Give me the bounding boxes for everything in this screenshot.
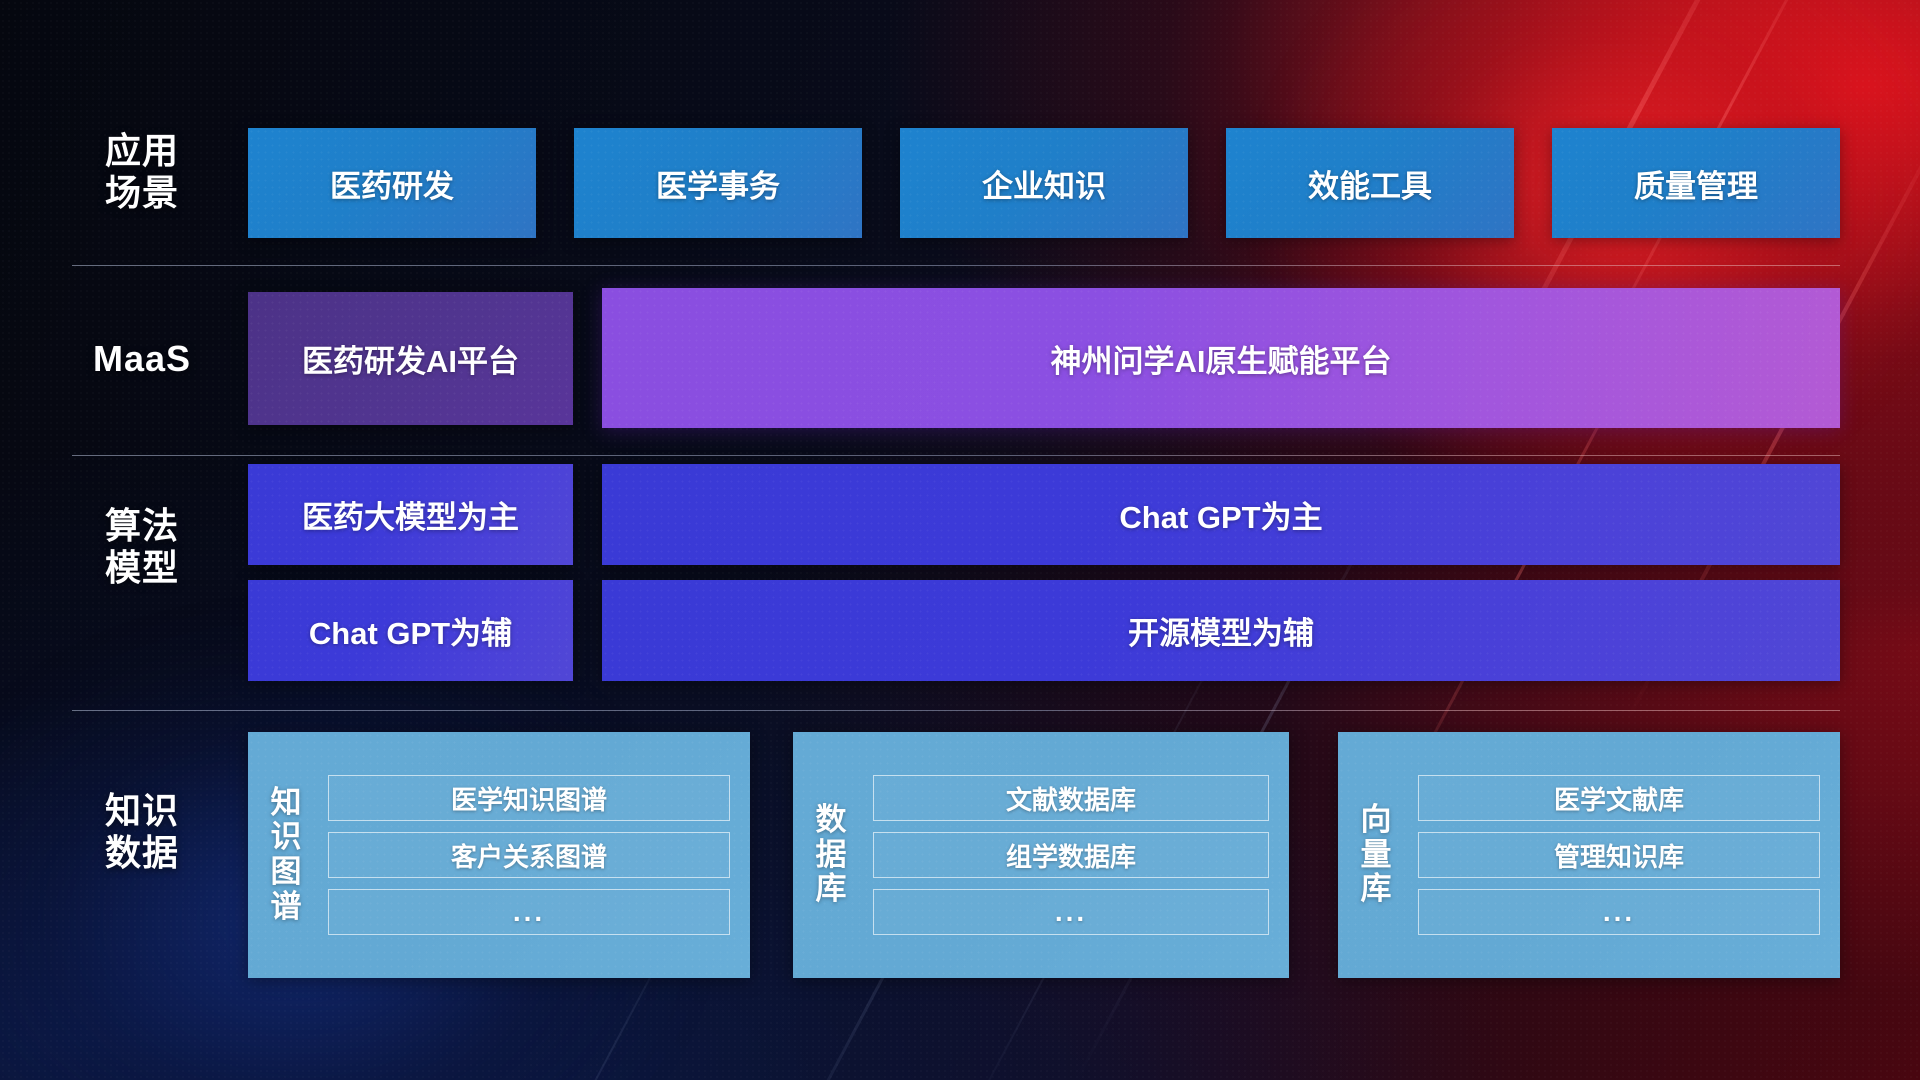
divider-2 — [72, 455, 1840, 456]
app-box-3-label: 企业知识 — [982, 161, 1106, 206]
knowledge-group-vector-store[interactable]: 向 量 库 医学文献库 管理知识库 ... — [1338, 732, 1840, 978]
maas-box-medical-ai-platform[interactable]: 医药研发AI平台 — [248, 292, 573, 425]
maas-box-medical-ai-platform-label: 医药研发AI平台 — [302, 336, 519, 381]
knowledge-item[interactable]: 文献数据库 — [873, 775, 1269, 821]
architecture-diagram: 应用 场景 医药研发 医学事务 企业知识 效能工具 质量管理 MaaS 医药研发… — [0, 0, 1920, 1080]
algo-box-row1-left-label: 医药大模型为主 — [302, 492, 519, 537]
app-box-5-label: 质量管理 — [1634, 161, 1758, 206]
knowledge-group-1-title: 知 识 图 谱 — [248, 732, 324, 978]
algo-box-row1-right[interactable]: Chat GPT为主 — [602, 464, 1840, 565]
knowledge-group-2-items: 文献数据库 组学数据库 ... — [869, 732, 1289, 978]
divider-3 — [72, 710, 1840, 711]
algo-box-row2-right-label: 开源模型为辅 — [1128, 608, 1314, 653]
algo-box-row2-right[interactable]: 开源模型为辅 — [602, 580, 1840, 681]
app-box-4-label: 效能工具 — [1308, 161, 1432, 206]
tier-label-algorithm-models: 算法 模型 — [72, 505, 212, 589]
algo-box-row1-left[interactable]: 医药大模型为主 — [248, 464, 573, 565]
knowledge-item[interactable]: 管理知识库 — [1418, 832, 1820, 878]
app-box-5[interactable]: 质量管理 — [1552, 128, 1840, 238]
knowledge-group-knowledge-graph[interactable]: 知 识 图 谱 医学知识图谱 客户关系图谱 ... — [248, 732, 750, 978]
knowledge-group-3-title: 向 量 库 — [1338, 732, 1414, 978]
algo-box-row1-right-label: Chat GPT为主 — [1119, 492, 1322, 537]
app-box-4[interactable]: 效能工具 — [1226, 128, 1514, 238]
maas-box-shenzhou-platform-label: 神州问学AI原生赋能平台 — [1051, 336, 1392, 381]
tier-label-application-scenarios: 应用 场景 — [72, 130, 212, 214]
knowledge-group-3-items: 医学文献库 管理知识库 ... — [1414, 732, 1840, 978]
knowledge-item[interactable]: 医学知识图谱 — [328, 775, 730, 821]
app-box-1[interactable]: 医药研发 — [248, 128, 536, 238]
tier-label-maas: MaaS — [72, 338, 212, 380]
knowledge-item-more[interactable]: ... — [873, 889, 1269, 935]
knowledge-group-database[interactable]: 数 据 库 文献数据库 组学数据库 ... — [793, 732, 1289, 978]
app-box-2-label: 医学事务 — [656, 161, 780, 206]
knowledge-item-more[interactable]: ... — [328, 889, 730, 935]
tier-label-knowledge-data: 知识 数据 — [72, 790, 212, 874]
knowledge-item[interactable]: 组学数据库 — [873, 832, 1269, 878]
app-box-1-label: 医药研发 — [330, 161, 454, 206]
knowledge-item[interactable]: 医学文献库 — [1418, 775, 1820, 821]
divider-1 — [72, 265, 1840, 266]
knowledge-item[interactable]: 客户关系图谱 — [328, 832, 730, 878]
knowledge-group-1-items: 医学知识图谱 客户关系图谱 ... — [324, 732, 750, 978]
algo-box-row2-left[interactable]: Chat GPT为辅 — [248, 580, 573, 681]
knowledge-group-2-title: 数 据 库 — [793, 732, 869, 978]
app-box-2[interactable]: 医学事务 — [574, 128, 862, 238]
app-box-3[interactable]: 企业知识 — [900, 128, 1188, 238]
knowledge-item-more[interactable]: ... — [1418, 889, 1820, 935]
algo-box-row2-left-label: Chat GPT为辅 — [309, 608, 512, 653]
maas-box-shenzhou-platform[interactable]: 神州问学AI原生赋能平台 — [602, 288, 1840, 428]
